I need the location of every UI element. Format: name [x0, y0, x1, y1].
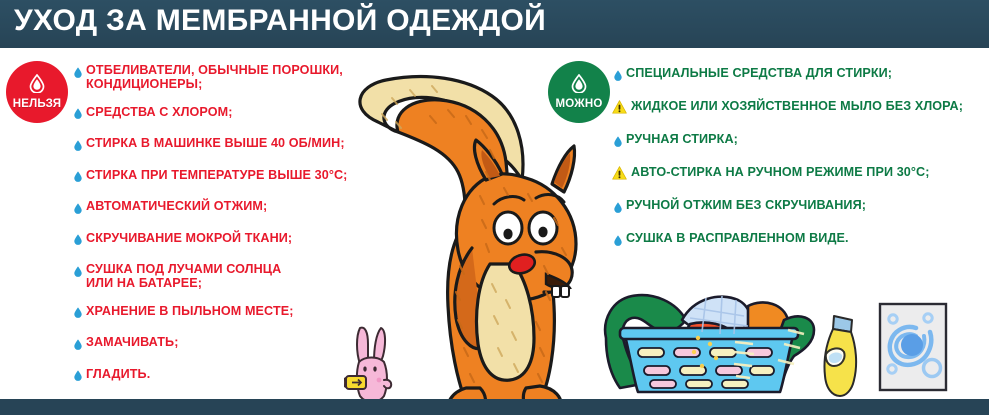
list-item: СТИРКА В МАШИНКЕ ВЫШЕ 40 ОБ/МИН; — [72, 136, 372, 154]
list-item-label: ГЛАДИТЬ. — [86, 367, 150, 381]
list-item: СУШКА В РАСПРАВЛЕННОМ ВИДЕ. — [612, 231, 989, 249]
infographic-canvas: УХОД ЗА МЕМБРАННОЙ ОДЕЖДОЙ НЕЛЬЗЯ МОЖНО … — [0, 0, 989, 415]
list-item: ХРАНЕНИЕ В ПЫЛЬНОМ МЕСТЕ; — [72, 304, 372, 322]
forbidden-badge: НЕЛЬЗЯ — [6, 61, 68, 123]
water-drop-bullet-icon — [612, 232, 623, 248]
water-drop-bullet-icon — [612, 133, 623, 149]
pink-bunny-illustration — [344, 322, 396, 408]
water-drop-bullet-icon — [72, 137, 83, 153]
water-drop-bullet-icon — [72, 169, 83, 185]
list-item-label: АВТОМАТИЧЕСКИЙ ОТЖИМ; — [86, 199, 267, 213]
laundry-basket-illustration — [598, 272, 820, 402]
forbidden-badge-label: НЕЛЬЗЯ — [13, 99, 61, 111]
detergent-bottle-illustration — [818, 312, 866, 400]
list-item: ГЛАДИТЬ. — [72, 367, 372, 385]
water-drop-bullet-icon — [612, 67, 623, 83]
list-item-label: РУЧНОЙ ОТЖИМ БЕЗ СКРУЧИВАНИЯ; — [626, 198, 866, 212]
allowed-list: СПЕЦИАЛЬНЫЕ СРЕДСТВА ДЛЯ СТИРКИ; ЖИДКОЕ … — [612, 66, 989, 264]
list-item: ЗАМАЧИВАТЬ; — [72, 335, 372, 353]
list-item: ОТБЕЛИВАТЕЛИ, ОБЫЧНЫЕ ПОРОШКИ, КОНДИЦИОН… — [72, 63, 372, 91]
water-drop-bullet-icon — [72, 232, 83, 248]
forbidden-list: ОТБЕЛИВАТЕЛИ, ОБЫЧНЫЕ ПОРОШКИ, КОНДИЦИОН… — [72, 63, 372, 398]
water-drop-bullet-icon — [72, 106, 83, 122]
list-item-label: СКРУЧИВАНИЕ МОКРОЙ ТКАНИ; — [86, 231, 292, 245]
water-drop-bullet-icon — [72, 263, 83, 279]
warning-triangle-icon — [612, 99, 627, 115]
page-title: УХОД ЗА МЕМБРАННОЙ ОДЕЖДОЙ — [14, 4, 546, 38]
list-item-label: СРЕДСТВА С ХЛОРОМ; — [86, 105, 233, 119]
list-item-label: РУЧНАЯ СТИРКА; — [626, 132, 738, 146]
header-bar: УХОД ЗА МЕМБРАННОЙ ОДЕЖДОЙ — [0, 0, 989, 48]
list-item: СУШКА ПОД ЛУЧАМИ СОЛНЦА ИЛИ НА БАТАРЕЕ; — [72, 262, 372, 290]
list-item-label: ЖИДКОЕ ИЛИ ХОЗЯЙСТВЕННОЕ МЫЛО БЕЗ ХЛОРА; — [631, 99, 963, 113]
list-item-label: СТИРКА ПРИ ТЕМПЕРАТУРЕ ВЫШЕ 30°С; — [86, 168, 347, 182]
list-item: СПЕЦИАЛЬНЫЕ СРЕДСТВА ДЛЯ СТИРКИ; — [612, 66, 989, 84]
list-item: ЖИДКОЕ ИЛИ ХОЗЯЙСТВЕННОЕ МЫЛО БЕЗ ХЛОРА; — [612, 99, 989, 117]
list-item: СРЕДСТВА С ХЛОРОМ; — [72, 105, 372, 123]
water-drop-bullet-icon — [72, 64, 83, 80]
list-item: АВТО-СТИРКА НА РУЧНОМ РЕЖИМЕ ПРИ 30°С; — [612, 165, 989, 183]
water-drop-bullet-icon — [612, 199, 623, 215]
water-drop-bullet-icon — [72, 368, 83, 384]
list-item: РУЧНОЙ ОТЖИМ БЕЗ СКРУЧИВАНИЯ; — [612, 198, 989, 216]
list-item-label: АВТО-СТИРКА НА РУЧНОМ РЕЖИМЕ ПРИ 30°С; — [631, 165, 930, 179]
list-item-label: СТИРКА В МАШИНКЕ ВЫШЕ 40 ОБ/МИН; — [86, 136, 345, 150]
list-item: СКРУЧИВАНИЕ МОКРОЙ ТКАНИ; — [72, 231, 372, 249]
footer-bar — [0, 399, 989, 415]
list-item-label: СУШКА В РАСПРАВЛЕННОМ ВИДЕ. — [626, 231, 849, 245]
list-item-label: СПЕЦИАЛЬНЫЕ СРЕДСТВА ДЛЯ СТИРКИ; — [626, 66, 892, 80]
list-item: РУЧНАЯ СТИРКА; — [612, 132, 989, 150]
water-drop-bullet-icon — [72, 336, 83, 352]
list-item: АВТОМАТИЧЕСКИЙ ОТЖИМ; — [72, 199, 372, 217]
list-item-label: СУШКА ПОД ЛУЧАМИ СОЛНЦА ИЛИ НА БАТАРЕЕ; — [86, 262, 281, 290]
list-item: СТИРКА ПРИ ТЕМПЕРАТУРЕ ВЫШЕ 30°С; — [72, 168, 372, 186]
water-drop-bullet-icon — [72, 200, 83, 216]
list-item-label: ОТБЕЛИВАТЕЛИ, ОБЫЧНЫЕ ПОРОШКИ, КОНДИЦИОН… — [86, 63, 343, 91]
water-drop-icon — [29, 74, 45, 98]
water-drop-bullet-icon — [72, 305, 83, 321]
washing-machine-illustration — [876, 300, 950, 394]
list-item-label: ХРАНЕНИЕ В ПЫЛЬНОМ МЕСТЕ; — [86, 304, 294, 318]
warning-triangle-icon — [612, 165, 627, 181]
list-item-label: ЗАМАЧИВАТЬ; — [86, 335, 178, 349]
